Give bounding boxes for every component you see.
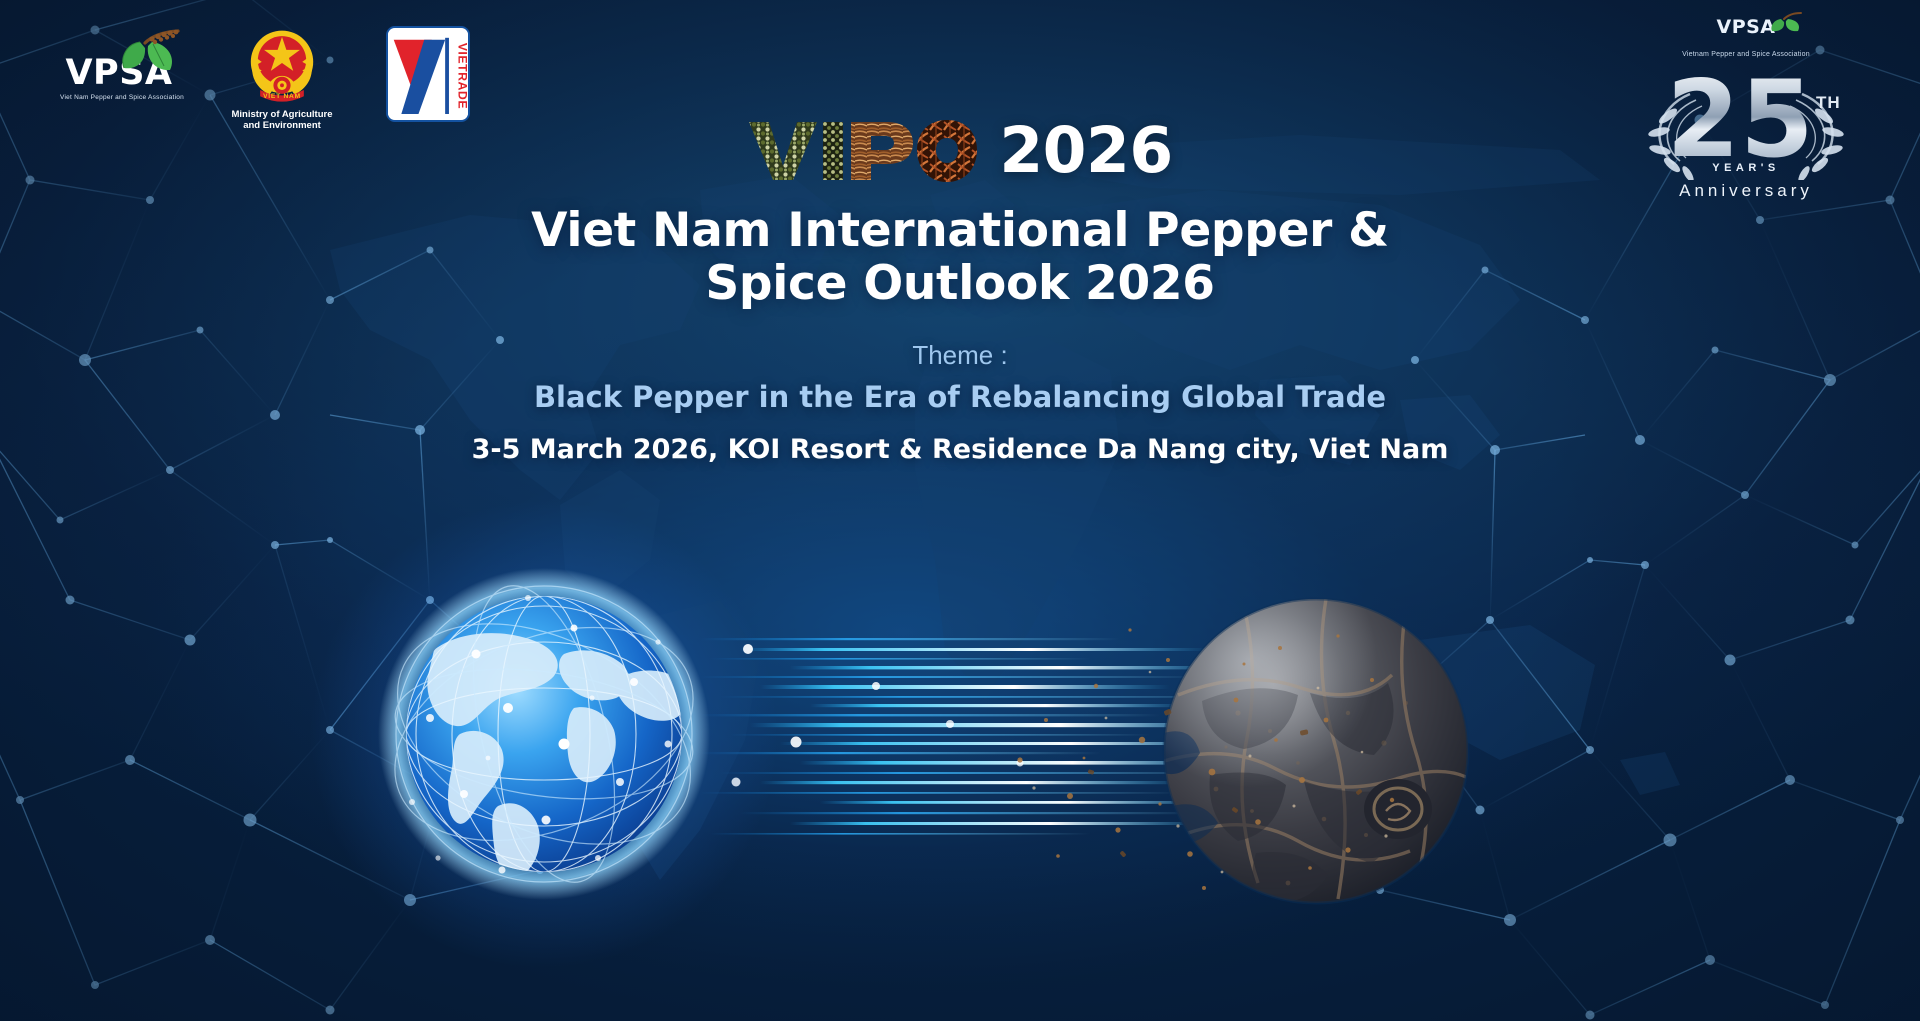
vpsa-logo[interactable]: VPSA Viet Nam Pepper and Spice Associati… <box>60 26 178 101</box>
vipo-logotype <box>747 118 977 182</box>
anniversary-ordinal: TH <box>1816 93 1841 112</box>
anniversary-word: Anniversary <box>1628 181 1864 201</box>
pepper-particle-dust <box>1000 600 1420 900</box>
vietnam-national-emblem-icon: VIET NAM <box>243 26 321 104</box>
vietrade-wordmark: VIETRADE <box>455 43 468 109</box>
theme-label: Theme : <box>0 340 1920 371</box>
vpsa-tagline: Viet Nam Pepper and Spice Association <box>60 94 178 101</box>
page-title-line2: Spice Outlook 2026 <box>0 257 1920 310</box>
pepper-leaves-icon <box>112 28 184 72</box>
ministry-caption: Ministry of Agriculture and Environment <box>226 109 338 132</box>
venue-and-date: 3-5 March 2026, KOI Resort & Residence D… <box>0 434 1920 465</box>
partner-logos: VPSA Viet Nam Pepper and Spice Associati… <box>60 26 470 132</box>
vietrade-mark-icon: VIETRADE <box>388 28 468 120</box>
ministry-caption-line2: and Environment <box>226 120 338 131</box>
anniversary-badge[interactable]: VPSA Vietnam Pepper and Spice Associatio… <box>1628 16 1864 201</box>
event-year: 2026 <box>999 119 1172 182</box>
anniversary-brand: VPSA <box>1716 16 1775 38</box>
pepper-leaves-icon-small <box>1768 12 1802 32</box>
theme-text: Black Pepper in the Era of Rebalancing G… <box>0 380 1920 414</box>
anniversary-brand-sub: Vietnam Pepper and Spice Association <box>1628 51 1864 58</box>
ministry-caption-line1: Ministry of Agriculture <box>226 109 338 120</box>
anniversary-years-label: YEAR'S <box>1628 162 1864 174</box>
page-title-line1: Viet Nam International Pepper & <box>0 204 1920 257</box>
emblem-ribbon-text: VIET NAM <box>263 93 301 100</box>
network-globe-graphic <box>368 558 720 910</box>
anniversary-brand-row: VPSA <box>1628 16 1864 50</box>
page-title: Viet Nam International Pepper & Spice Ou… <box>0 204 1920 310</box>
ministry-logo[interactable]: VIET NAM Ministry of Agriculture and Env… <box>226 26 338 132</box>
vietrade-logo[interactable]: VIETRADE <box>386 26 470 122</box>
